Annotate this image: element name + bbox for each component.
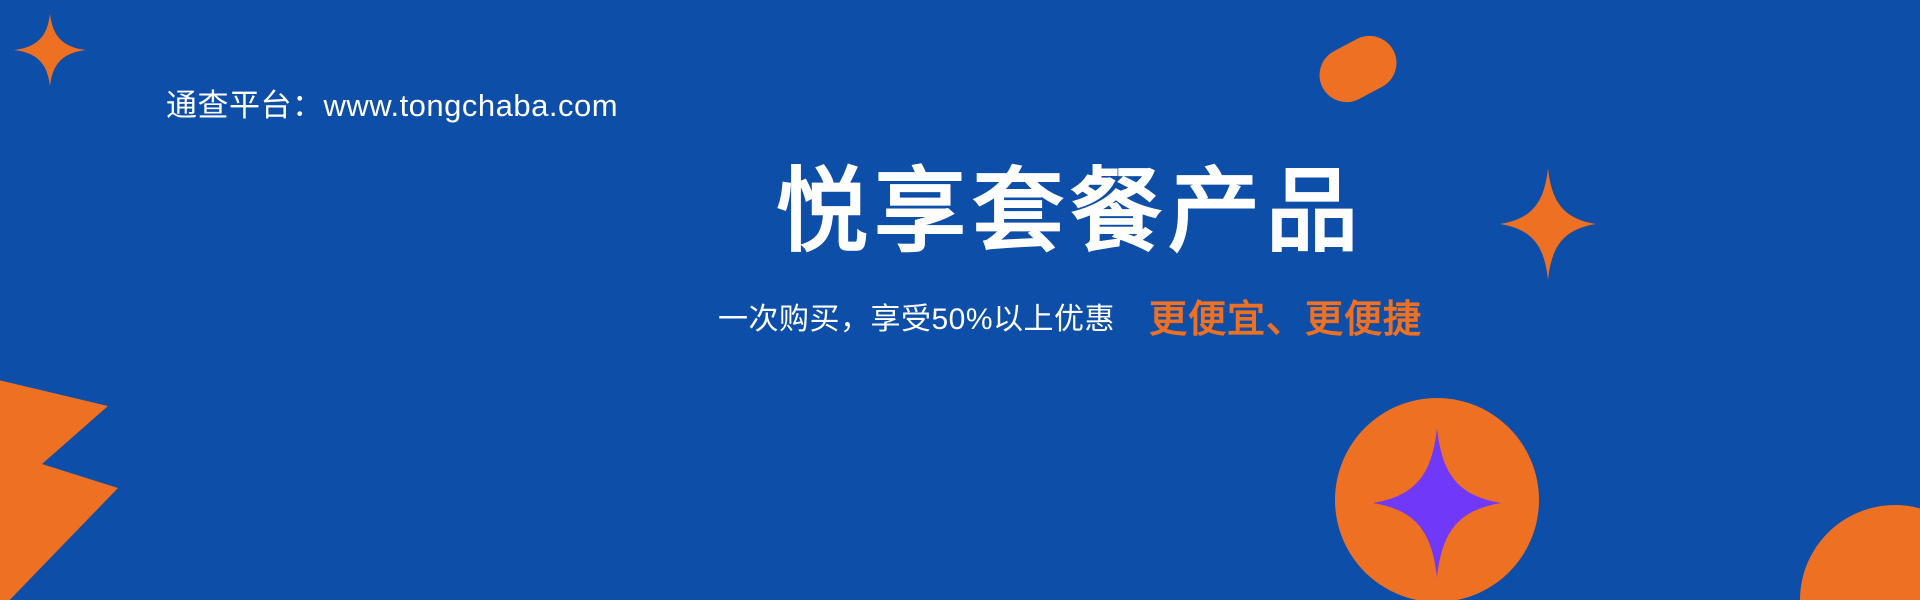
platform-label: 通查平台： [166,88,324,123]
subtitle-plain: 一次购买，享受50%以上优惠 [718,303,1115,336]
promo-banner: 通查平台：www.tongchaba.com 悦享套餐产品 一次购买，享受50%… [0,0,1920,600]
subtitle-row: 一次购买，享受50%以上优惠更便宜、更便捷 [0,296,1920,344]
page-title: 悦享套餐产品 [0,158,1920,266]
platform-url[interactable]: www.tongchaba.com [324,88,619,123]
subtitle-highlight: 更便宜、更便捷 [1149,299,1422,341]
platform-url-line: 通查平台：www.tongchaba.com [166,84,618,128]
